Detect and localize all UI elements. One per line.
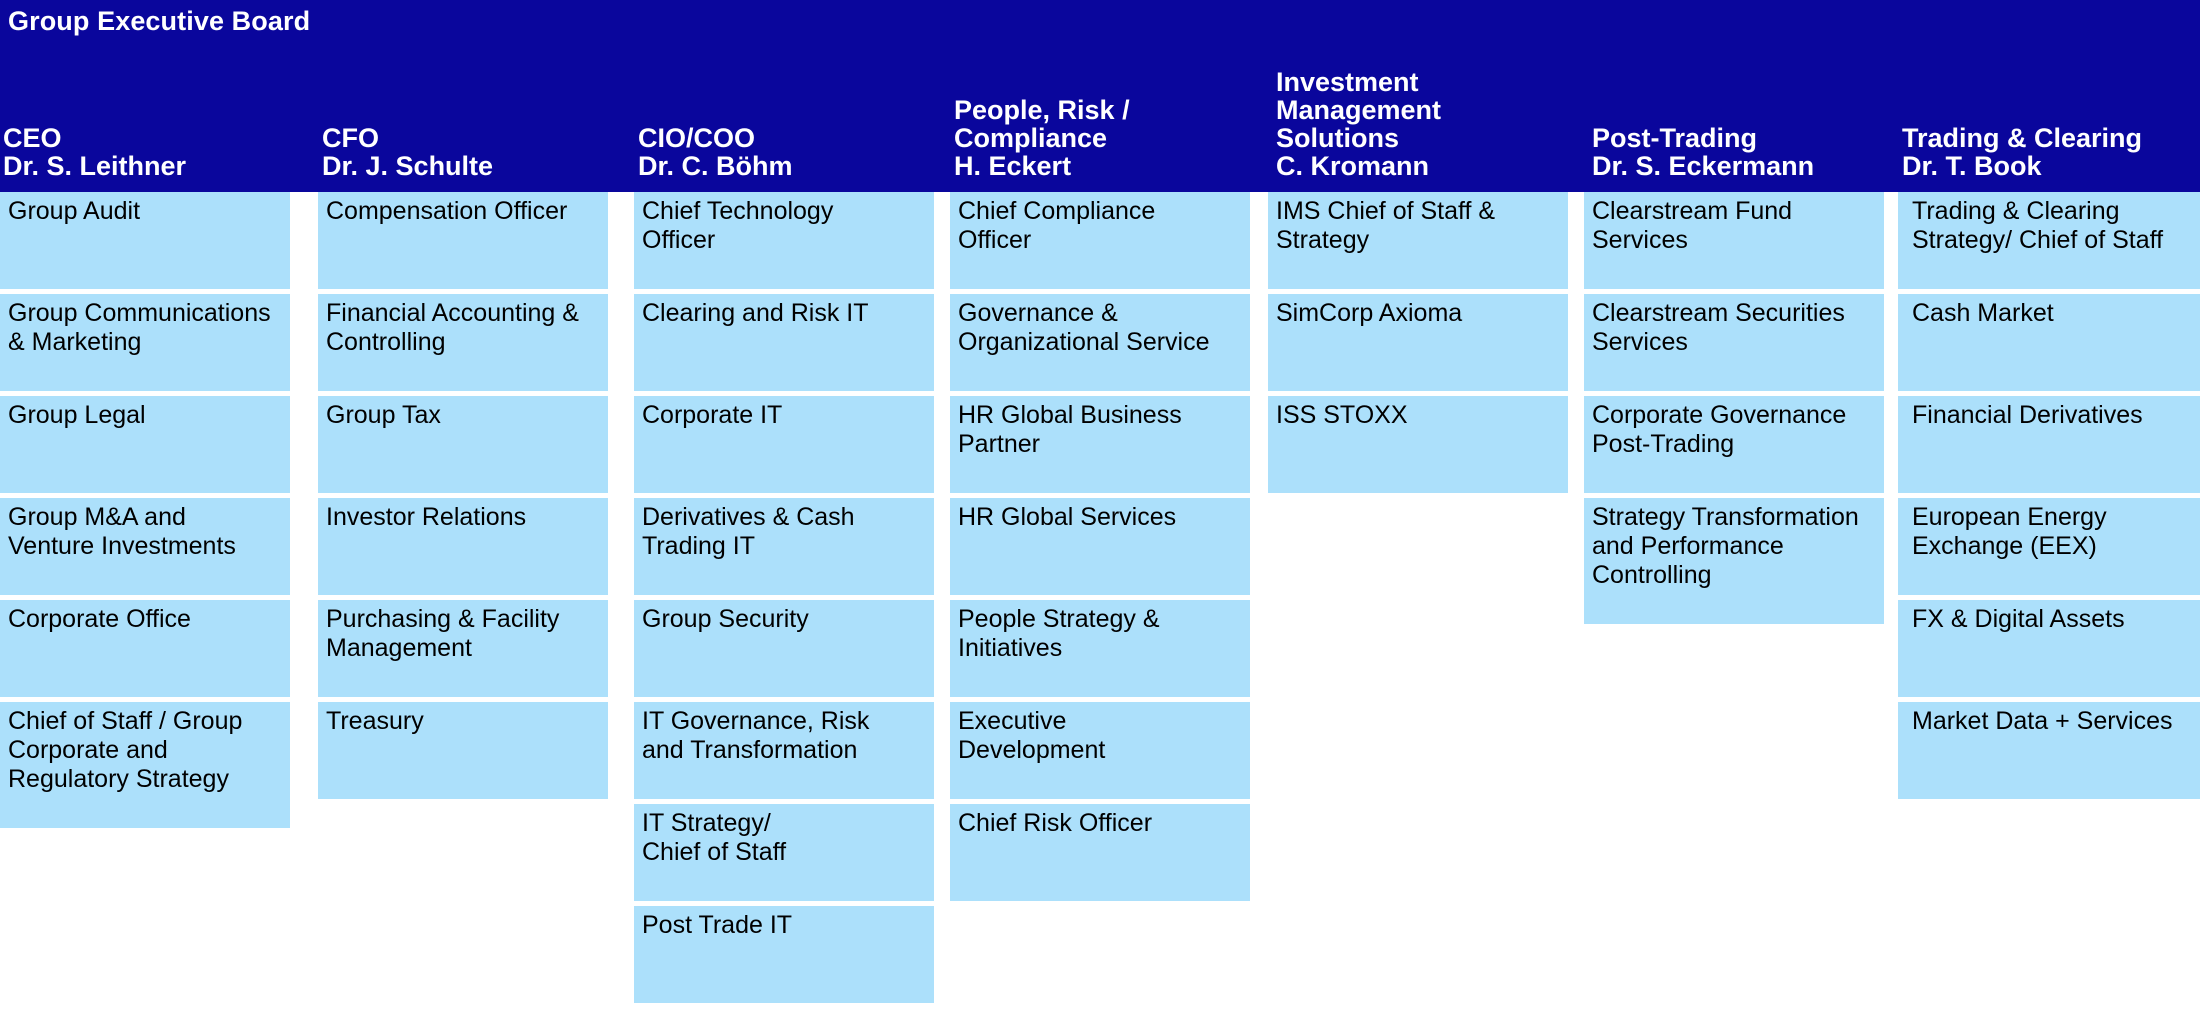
- org-unit-box[interactable]: Group Audit: [0, 192, 290, 289]
- board-member-header-ceo: CEODr. S. Leithner: [3, 124, 293, 180]
- org-unit-box[interactable]: Financial Derivatives: [1898, 396, 2200, 493]
- board-division-name: CFO: [322, 124, 612, 152]
- org-unit-box[interactable]: Strategy Transformation and Performance …: [1584, 498, 1884, 624]
- org-unit-box[interactable]: Chief Compliance Officer: [950, 192, 1250, 289]
- board-member-name: Dr. C. Böhm: [638, 152, 938, 180]
- org-unit-box[interactable]: Corporate Office: [0, 600, 290, 697]
- org-unit-box[interactable]: FX & Digital Assets: [1898, 600, 2200, 697]
- org-unit-box[interactable]: IT Strategy/ Chief of Staff: [634, 804, 934, 901]
- org-unit-box[interactable]: Governance & Organizational Service: [950, 294, 1250, 391]
- org-unit-box[interactable]: Corporate Governance Post-Trading: [1584, 396, 1884, 493]
- org-unit-box[interactable]: Group Legal: [0, 396, 290, 493]
- org-unit-box[interactable]: Market Data + Services: [1898, 702, 2200, 799]
- board-member-name: C. Kromann: [1276, 152, 1576, 180]
- org-unit-box[interactable]: Executive Development: [950, 702, 1250, 799]
- org-unit-box[interactable]: IT Governance, Risk and Transformation: [634, 702, 934, 799]
- org-unit-box[interactable]: Clearstream Fund Services: [1584, 192, 1884, 289]
- board-member-header-investment-management-solutions: Investment Management SolutionsC. Kroman…: [1276, 68, 1576, 180]
- board-division-name: CIO/COO: [638, 124, 938, 152]
- org-unit-box[interactable]: Financial Accounting & Controlling: [318, 294, 608, 391]
- org-unit-box[interactable]: HR Global Services: [950, 498, 1250, 595]
- org-column-cfo: Compensation OfficerFinancial Accounting…: [318, 192, 608, 804]
- org-unit-box[interactable]: Corporate IT: [634, 396, 934, 493]
- executive-board-header-band: Group Executive Board CEODr. S. Leithner…: [0, 0, 2200, 192]
- org-unit-box[interactable]: Group Tax: [318, 396, 608, 493]
- org-unit-box[interactable]: Clearstream Securities Services: [1584, 294, 1884, 391]
- org-column-cio-coo: Chief Technology OfficerClearing and Ris…: [634, 192, 934, 1008]
- org-unit-box[interactable]: Chief Technology Officer: [634, 192, 934, 289]
- board-member-name: Dr. J. Schulte: [322, 152, 612, 180]
- org-unit-box[interactable]: Trading & Clearing Strategy/ Chief of St…: [1898, 192, 2200, 289]
- org-column-post-trading: Clearstream Fund ServicesClearstream Sec…: [1584, 192, 1884, 629]
- org-unit-box[interactable]: ISS STOXX: [1268, 396, 1568, 493]
- org-unit-box[interactable]: Group M&A and Venture Investments: [0, 498, 290, 595]
- board-member-header-post-trading: Post-TradingDr. S. Eckermann: [1592, 124, 1892, 180]
- board-member-header-cio-coo: CIO/COODr. C. Böhm: [638, 124, 938, 180]
- org-unit-box[interactable]: Group Communications & Marketing: [0, 294, 290, 391]
- org-unit-box[interactable]: Post Trade IT: [634, 906, 934, 1003]
- org-chart: Group Executive Board CEODr. S. Leithner…: [0, 0, 2200, 1009]
- org-unit-box[interactable]: Compensation Officer: [318, 192, 608, 289]
- board-division-name: CEO: [3, 124, 293, 152]
- board-member-header-people-risk-compliance: People, Risk / ComplianceH. Eckert: [954, 96, 1254, 180]
- board-member-name: Dr. S. Leithner: [3, 152, 293, 180]
- org-column-trading-clearing: Trading & Clearing Strategy/ Chief of St…: [1898, 192, 2200, 804]
- org-unit-box[interactable]: European Energy Exchange (EEX): [1898, 498, 2200, 595]
- board-division-name: Post-Trading: [1592, 124, 1892, 152]
- org-columns: Group AuditGroup Communications & Market…: [0, 192, 2200, 1009]
- org-unit-box[interactable]: People Strategy & Initiatives: [950, 600, 1250, 697]
- board-division-name: Investment Management Solutions: [1276, 68, 1576, 152]
- board-member-header-trading-clearing: Trading & ClearingDr. T. Book: [1902, 124, 2200, 180]
- board-member-name: Dr. S. Eckermann: [1592, 152, 1892, 180]
- org-unit-box[interactable]: Derivatives & Cash Trading IT: [634, 498, 934, 595]
- board-member-header-cfo: CFODr. J. Schulte: [322, 124, 612, 180]
- org-unit-box[interactable]: Cash Market: [1898, 294, 2200, 391]
- org-unit-box[interactable]: HR Global Business Partner: [950, 396, 1250, 493]
- board-member-name: Dr. T. Book: [1902, 152, 2200, 180]
- org-unit-box[interactable]: SimCorp Axioma: [1268, 294, 1568, 391]
- org-column-ceo: Group AuditGroup Communications & Market…: [0, 192, 290, 833]
- org-unit-box[interactable]: Clearing and Risk IT: [634, 294, 934, 391]
- org-column-people-risk-compliance: Chief Compliance OfficerGovernance & Org…: [950, 192, 1250, 906]
- org-unit-box[interactable]: Treasury: [318, 702, 608, 799]
- org-unit-box[interactable]: Chief of Staff / Group Corporate and Reg…: [0, 702, 290, 828]
- org-column-investment-management-solutions: IMS Chief of Staff & StrategySimCorp Axi…: [1268, 192, 1568, 498]
- board-division-name: Trading & Clearing: [1902, 124, 2200, 152]
- board-member-name: H. Eckert: [954, 152, 1254, 180]
- board-member-header-row: CEODr. S. LeithnerCFODr. J. SchulteCIO/C…: [0, 0, 2200, 192]
- org-unit-box[interactable]: Purchasing & Facility Management: [318, 600, 608, 697]
- org-unit-box[interactable]: Chief Risk Officer: [950, 804, 1250, 901]
- board-division-name: People, Risk / Compliance: [954, 96, 1254, 152]
- org-unit-box[interactable]: Group Security: [634, 600, 934, 697]
- org-unit-box[interactable]: Investor Relations: [318, 498, 608, 595]
- org-unit-box[interactable]: IMS Chief of Staff & Strategy: [1268, 192, 1568, 289]
